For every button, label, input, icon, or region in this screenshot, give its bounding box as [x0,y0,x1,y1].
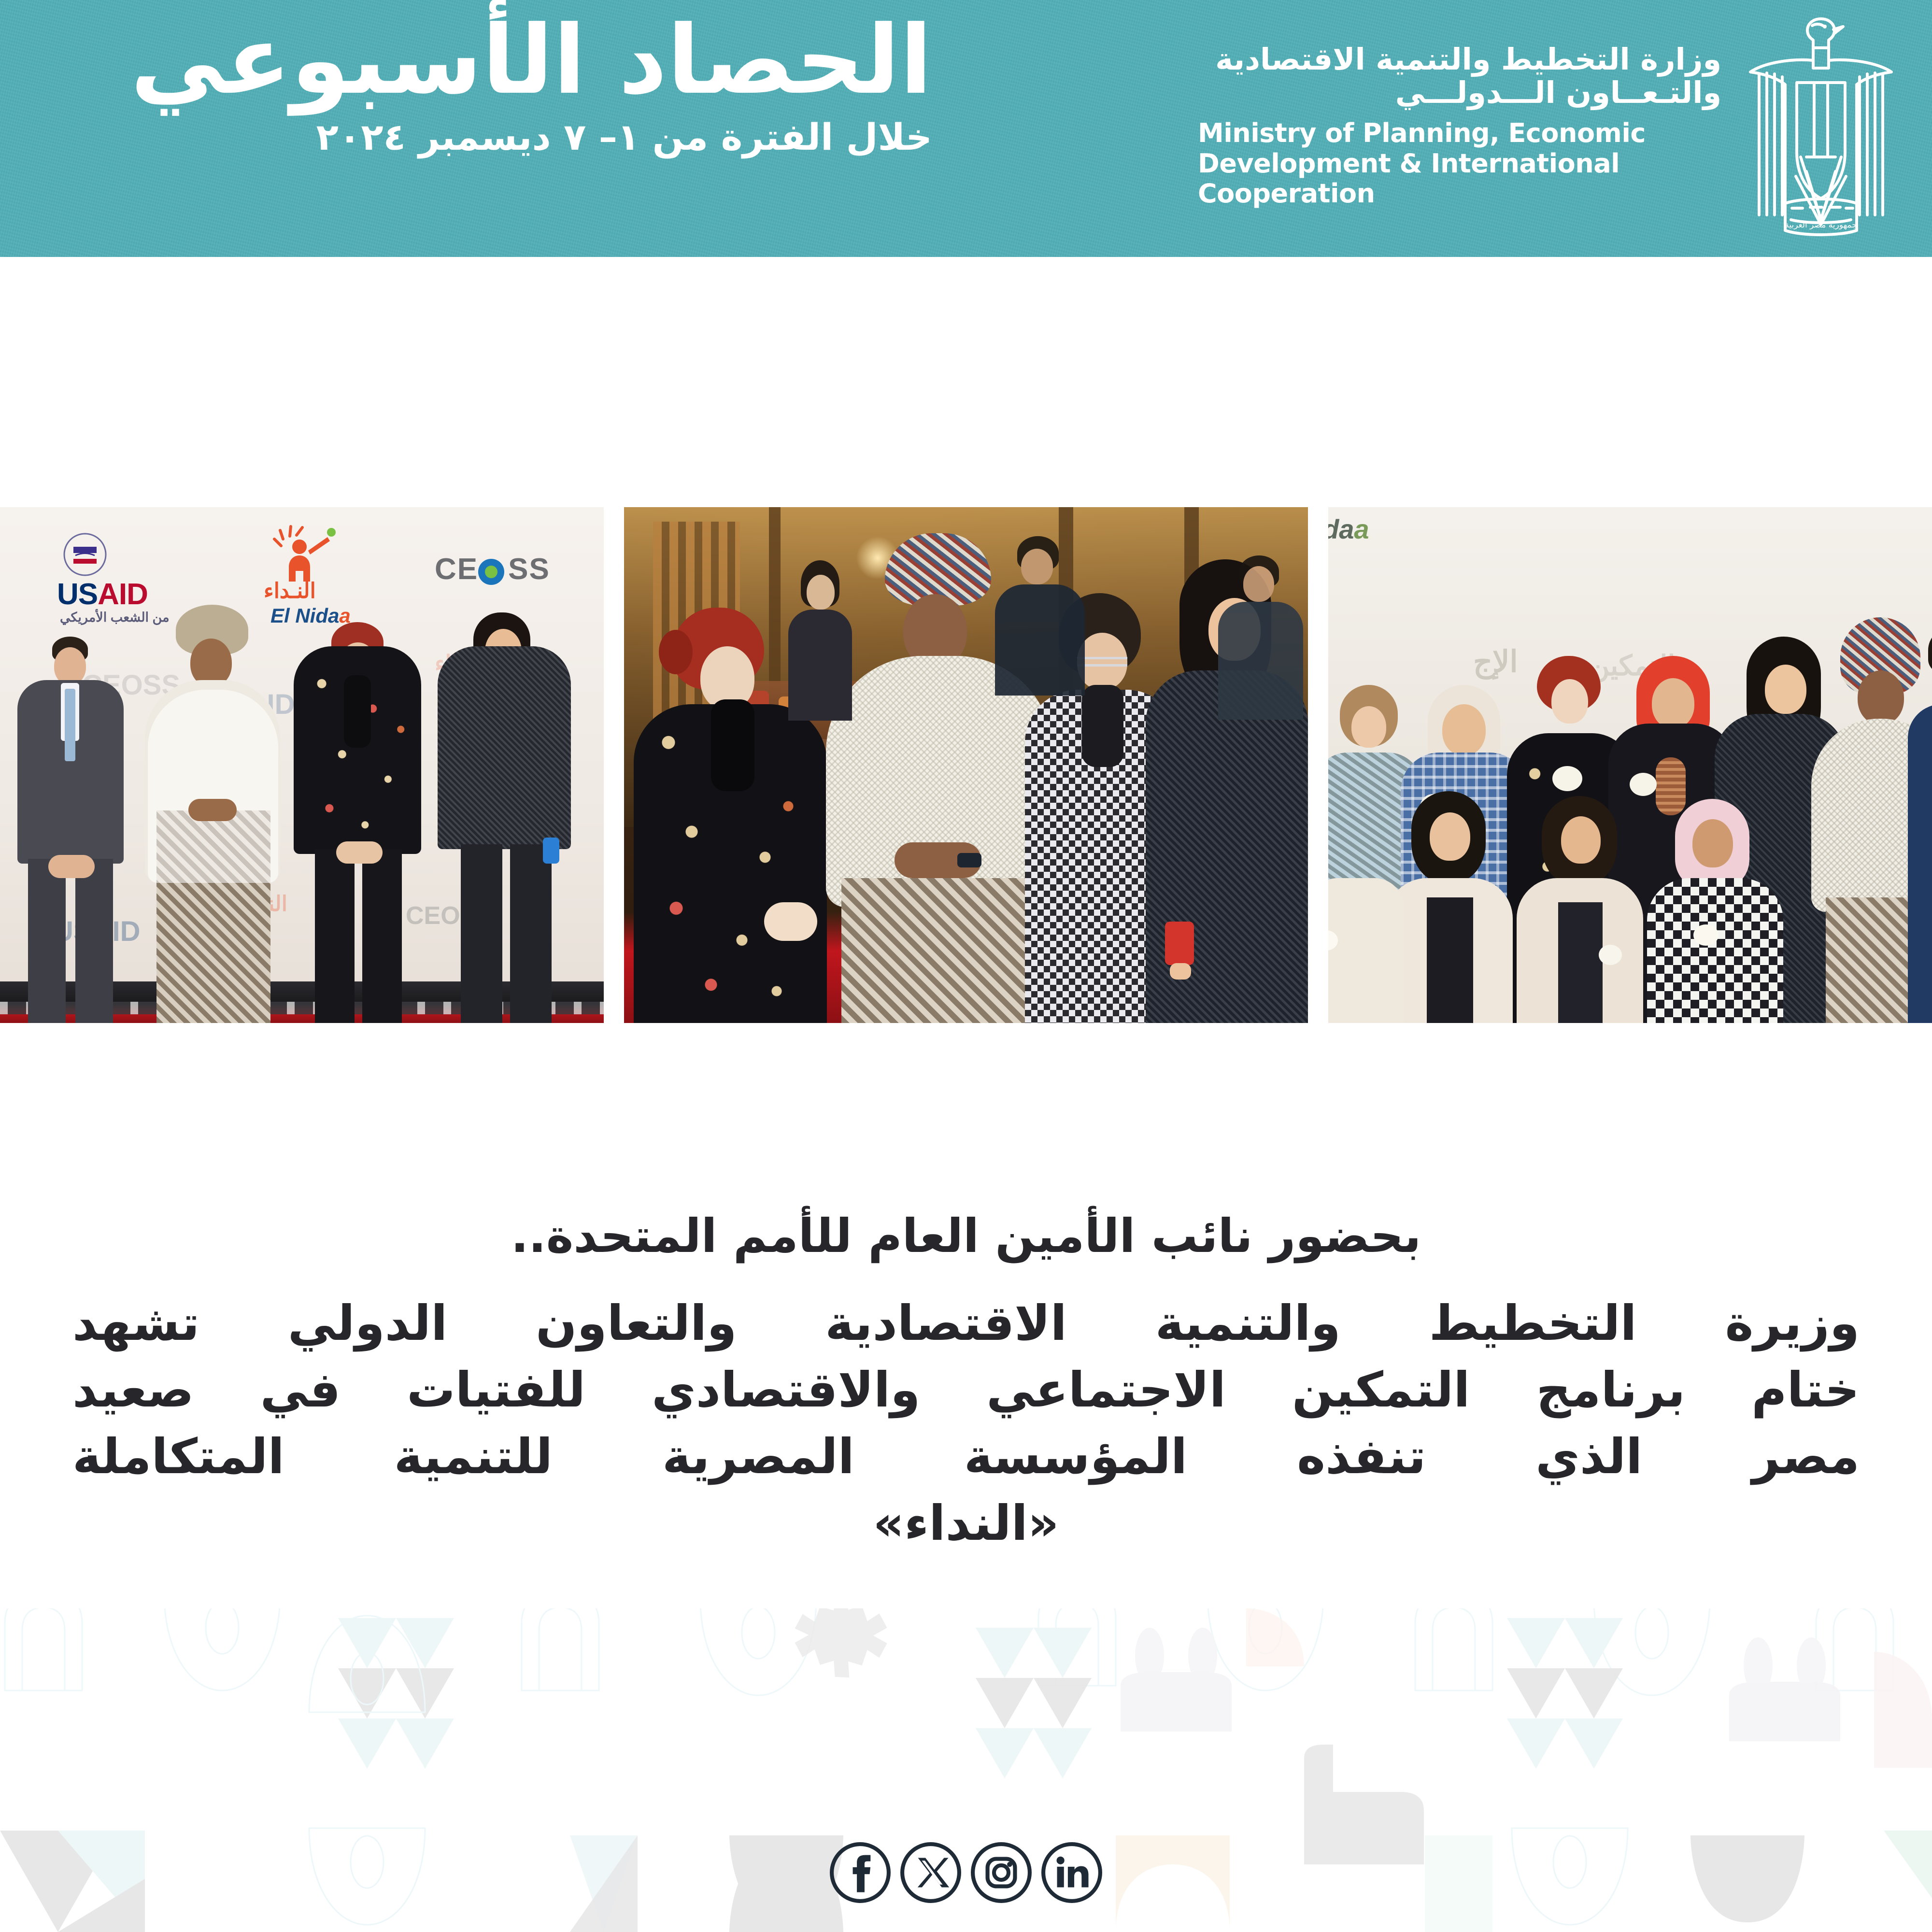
x-twitter-icon[interactable] [899,1841,962,1904]
article-paragraph: وزيرة التخطيط والتنمية الاقتصادية والتعا… [72,1290,1860,1557]
poster-header: الحصاد الأسبوعي خلال الفترة من ١– ٧ ديسم… [0,0,1932,257]
photo-exhibition-visit [624,507,1308,1023]
header-date-range: خلال الفترة من ١– ٧ ديسمبر ٢٠٢٤ [53,116,932,158]
photo-stage-group-four: USAID من الشعب الأمريكي [0,507,604,1023]
ministry-name-english-line-3: Cooperation [1198,179,1721,209]
facebook-icon[interactable] [829,1841,892,1904]
linkedin-icon[interactable] [1040,1841,1103,1904]
ministry-name-arabic-line-2: والتـعــاون الـــدولـــي [1198,76,1721,109]
article-paragraph-line-3: مصر الذي تنفذه المؤسسة المصرية للتنمية ا… [72,1423,1860,1490]
photo-group-photo-beneficiaries: daa الإج التمكين [1328,507,1932,1023]
photo-strip: USAID من الشعب الأمريكي [0,507,1932,1023]
ministry-wordmark: وزارة التخطيط والتنمية الاقتصادية والتـع… [1198,10,1734,209]
page-title: الحصاد الأسبوعي [53,13,932,109]
article-paragraph-line-1: وزيرة التخطيط والتنمية الاقتصادية والتعا… [72,1290,1860,1357]
article-lead: بحضور نائب الأمين العام للأمم المتحدة.. [72,1207,1860,1265]
article-text: بحضور نائب الأمين العام للأمم المتحدة.. … [72,1207,1860,1557]
emblem-caption: جمهورية مصر العربية [1785,220,1857,230]
social-links [0,1841,1932,1904]
ministry-name-english-line-2: Development & International [1198,149,1721,179]
poster-canvas: الحصاد الأسبوعي خلال الفترة من ١– ٧ ديسم… [0,0,1932,1932]
ministry-name-arabic-line-1: وزارة التخطيط والتنمية الاقتصادية [1198,43,1721,76]
article-paragraph-line-4: «النداء» [72,1490,1860,1557]
ministry-name-english: Ministry of Planning, Economic Developme… [1198,118,1721,209]
article-paragraph-line-2: ختام برنامج التمكين الاجتماعي والاقتصادي… [72,1357,1860,1423]
instagram-icon[interactable] [970,1841,1033,1904]
ministry-name-english-line-1: Ministry of Planning, Economic [1198,118,1721,149]
ministry-logo: جمهورية مصر العربية وزارة التخطيط والتنم… [1198,10,1908,251]
eagle-of-saladin-emblem: جمهورية مصر العربية [1734,10,1908,246]
header-title-block: الحصاد الأسبوعي خلال الفترة من ١– ٧ ديسم… [53,13,932,158]
